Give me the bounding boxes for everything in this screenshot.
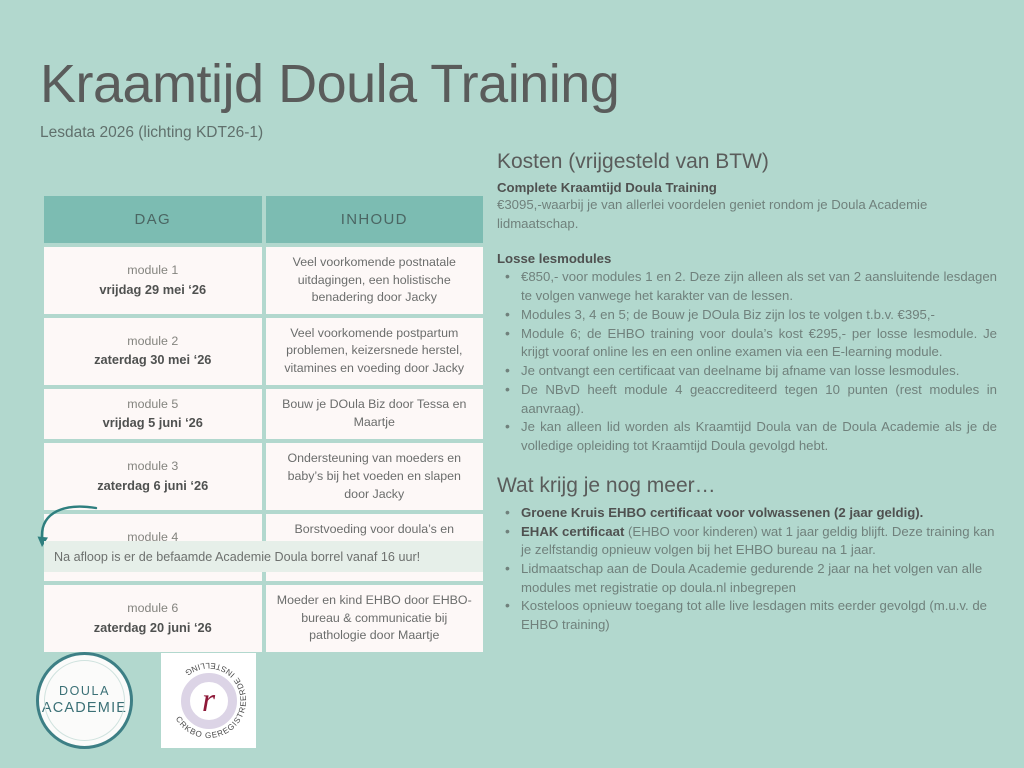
crkbo-logo: r CRKBO GEREGISTREERDE INSTELLING [161,653,256,748]
module-description: Bouw je DOula Biz door Tessa en Maartje [274,396,476,431]
module-description: Veel voorkomende postpartum problemen, k… [274,325,476,378]
list-item: Module 6; de EHBO training voor doula’s … [497,325,997,362]
extras-bullet-list: Groene Kruis EHBO certificaat voor volwa… [497,504,997,635]
cell-inhoud: Veel voorkomende postnatale uitdagingen,… [266,247,484,314]
kosten-bullet-list: €850,- voor modules 1 en 2. Deze zijn al… [497,268,997,455]
complete-training-label: Complete Kraamtijd Doula Training [497,180,997,195]
page-subtitle: Lesdata 2026 (lichting KDT26-1) [40,124,820,142]
cell-inhoud: Veel voorkomende postpartum problemen, k… [266,318,484,385]
module-date: vrijdag 29 mei ‘26 [52,281,254,299]
module-description: Ondersteuning van moeders en baby’s bij … [274,450,476,503]
module-label: module 6 [52,600,254,618]
losse-lesmodules-label: Losse lesmodules [497,251,997,266]
module-label: module 5 [52,396,254,414]
spacer [497,233,997,251]
schedule-table: DAG INHOUD module 1 vrijdag 29 mei ‘26 V… [40,192,487,656]
logo-row: DOULA ACADEMIE r CRKBO GEREGISTREERDE IN… [36,652,256,749]
schedule-table-container: DAG INHOUD module 1 vrijdag 29 mei ‘26 V… [40,192,487,656]
table-row: module 3 zaterdag 6 juni ‘26 Ondersteuni… [44,443,483,510]
doula-logo-line1: DOULA [59,684,110,700]
list-item: Lidmaatschap aan de Doula Academie gedur… [497,560,997,597]
schedule-table-head: DAG INHOUD [44,196,483,243]
module-label: module 2 [52,333,254,351]
cell-inhoud: Ondersteuning van moeders en baby’s bij … [266,443,484,510]
table-row: module 1 vrijdag 29 mei ‘26 Veel voorkom… [44,247,483,314]
module-description: Moeder en kind EHBO door EHBO-bureau & c… [274,592,476,645]
complete-training-text: €3095,-waarbij je van allerlei voordelen… [497,196,997,233]
schedule-table-body: module 1 vrijdag 29 mei ‘26 Veel voorkom… [44,247,483,652]
cell-dag: module 5 vrijdag 5 juni ‘26 [44,389,262,440]
list-item: Je ontvangt een certificaat van deelname… [497,362,997,381]
module-date: vrijdag 5 juni ‘26 [52,414,254,432]
page-title: Kraamtijd Doula Training [40,56,820,113]
table-row: module 6 zaterdag 20 juni ‘26 Moeder en … [44,585,483,652]
borrel-note: Na afloop is er de befaamde Academie Dou… [44,541,483,572]
list-item-bold: EHAK certificaat [521,524,624,539]
list-item: Groene Kruis EHBO certificaat voor volwa… [497,504,997,523]
module-date: zaterdag 6 juni ‘26 [52,477,254,495]
cell-inhoud: Moeder en kind EHBO door EHBO-bureau & c… [266,585,484,652]
cell-dag: module 3 zaterdag 6 juni ‘26 [44,443,262,510]
column-header-dag: DAG [44,196,262,243]
crkbo-text-path: CRKBO GEREGISTREERDE INSTELLING [174,661,248,740]
module-date: zaterdag 30 mei ‘26 [52,351,254,369]
list-item: EHAK certificaat (EHBO voor kinderen) wa… [497,523,997,560]
page-header: Kraamtijd Doula Training Lesdata 2026 (l… [40,56,820,142]
column-header-inhoud: INHOUD [266,196,484,243]
list-item: €850,- voor modules 1 en 2. Deze zijn al… [497,268,997,305]
cell-dag: module 1 vrijdag 29 mei ‘26 [44,247,262,314]
module-description: Veel voorkomende postnatale uitdagingen,… [274,254,476,307]
list-item-bold: Groene Kruis EHBO certificaat voor volwa… [521,505,923,520]
list-item-rest: Lidmaatschap aan de Doula Academie gedur… [521,561,982,595]
module-date: zaterdag 20 juni ‘26 [52,619,254,637]
list-item-rest: Kosteloos opnieuw toegang tot alle live … [521,598,987,632]
list-item: De NBvD heeft module 4 geaccrediteerd te… [497,381,997,418]
list-item: Kosteloos opnieuw toegang tot alle live … [497,597,997,634]
cell-dag: module 6 zaterdag 20 juni ‘26 [44,585,262,652]
cell-dag: module 2 zaterdag 30 mei ‘26 [44,318,262,385]
kosten-heading: Kosten (vrijgesteld van BTW) [497,150,997,174]
module-label: module 1 [52,262,254,280]
module-label: module 3 [52,458,254,476]
table-row: module 2 zaterdag 30 mei ‘26 Veel voorko… [44,318,483,385]
right-column: Kosten (vrijgesteld van BTW) Complete Kr… [497,150,997,635]
list-item: Je kan alleen lid worden als Kraamtijd D… [497,418,997,455]
cell-inhoud: Bouw je DOula Biz door Tessa en Maartje [266,389,484,440]
doula-academie-logo: DOULA ACADEMIE [36,652,133,749]
table-row: module 5 vrijdag 5 juni ‘26 Bouw je DOul… [44,389,483,440]
doula-logo-line2: ACADEMIE [42,699,127,717]
list-item: Modules 3, 4 en 5; de Bouw je DOula Biz … [497,306,997,325]
crkbo-circular-text: CRKBO GEREGISTREERDE INSTELLING [161,653,256,748]
table-header-row: DAG INHOUD [44,196,483,243]
extras-heading: Wat krijg je nog meer… [497,474,997,498]
